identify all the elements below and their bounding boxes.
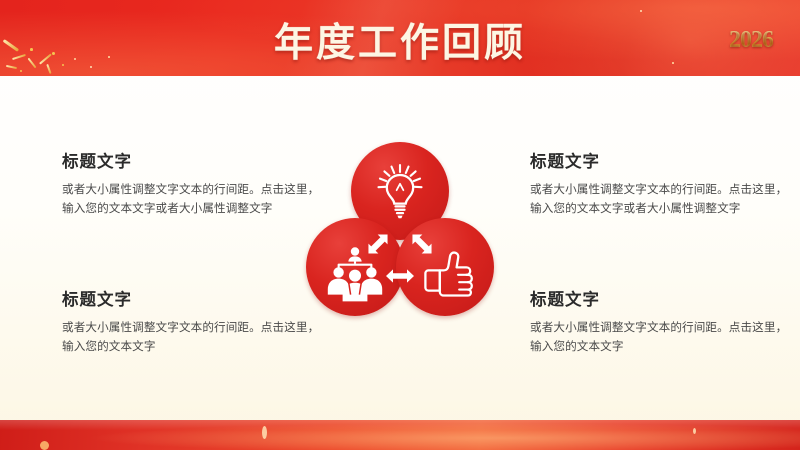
- block-title: 标题文字: [530, 286, 798, 310]
- slide-canvas: 年度工作回顾 2026 标题文字 或者大小属性调整文字文本的行间距。点击这里，输…: [0, 0, 800, 450]
- lightbulb-icon: [379, 165, 422, 218]
- footer-light-dot: [40, 441, 49, 450]
- double-arrow-horizontal-icon: [386, 269, 414, 282]
- block-title: 标题文字: [62, 148, 330, 172]
- footer-glow-overlay: [0, 420, 800, 450]
- footer-band: [0, 420, 800, 450]
- team-people-icon: [328, 247, 382, 301]
- thumbs-up-icon: [425, 253, 471, 296]
- block-body: 或者大小属性调整文字文本的行间距。点击这里，输入您的文本文字: [530, 319, 798, 357]
- block-body: 或者大小属性调整文字文本的行间距。点击这里，输入您的文本文字或者大小属性调整文字: [530, 181, 798, 219]
- content-block-bottom-left: 标题文字 或者大小属性调整文字文本的行间距。点击这里，输入您的文本文字: [62, 286, 330, 357]
- double-arrow-diagonal-up-right-icon: [364, 230, 393, 259]
- three-circle-venn-diagram: [300, 140, 500, 340]
- footer-light-dot: [693, 428, 696, 434]
- block-title: 标题文字: [530, 148, 798, 172]
- content-block-top-right: 标题文字 或者大小属性调整文字文本的行间距。点击这里，输入您的文本文字或者大小属…: [530, 148, 798, 219]
- block-body: 或者大小属性调整文字文本的行间距。点击这里，输入您的文本文字: [62, 319, 330, 357]
- header-banner: 年度工作回顾 2026: [0, 0, 800, 76]
- content-block-top-left: 标题文字 或者大小属性调整文字文本的行间距。点击这里，输入您的文本文字或者大小属…: [62, 148, 330, 219]
- block-title: 标题文字: [62, 286, 330, 310]
- block-body: 或者大小属性调整文字文本的行间距。点击这里，输入您的文本文字或者大小属性调整文字: [62, 181, 330, 219]
- double-arrow-diagonal-down-right-icon: [408, 230, 437, 259]
- content-block-bottom-right: 标题文字 或者大小属性调整文字文本的行间距。点击这里，输入您的文本文字: [530, 286, 798, 357]
- year-badge: 2026: [729, 27, 773, 54]
- page-title: 年度工作回顾: [0, 12, 800, 68]
- venn-icon-layer: [300, 140, 500, 340]
- footer-light-dot: [262, 426, 267, 439]
